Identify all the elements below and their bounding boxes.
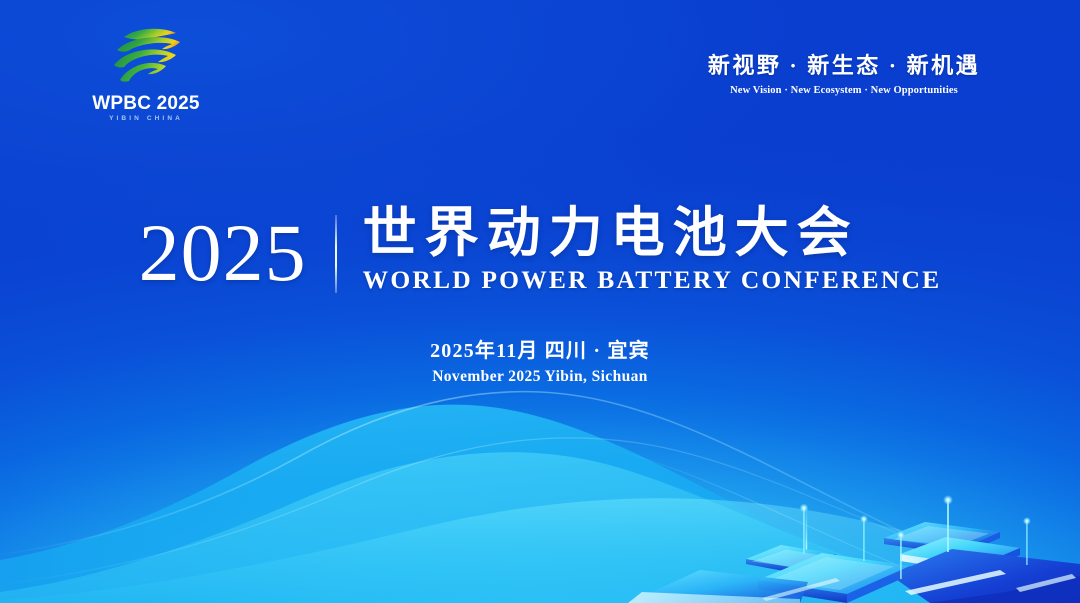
title-english: WORLD POWER BATTERY CONFERENCE [363, 266, 942, 294]
main-title-block: 2025 世界动力电池大会 WORLD POWER BATTERY CONFER… [0, 203, 1080, 295]
glowing-light-beam-group [806, 505, 808, 553]
date-english: November 2025 Yibin, Sichuan [0, 367, 1080, 387]
tagline-chinese: 新视野 · 新生态 · 新机遇 [694, 52, 994, 80]
logo-subtitle: YIBIN CHINA [86, 116, 206, 123]
title-year: 2025 [139, 203, 307, 295]
date-chinese: 2025年11月 四川 · 宜宾 [0, 338, 1080, 364]
wpbc-globe-mark-icon [100, 24, 192, 92]
title-chinese: 世界动力电池大会 [363, 203, 942, 263]
poster-canvas: WPBC 2025 YIBIN CHINA 新视野 · 新生态 · 新机遇 Ne… [0, 0, 1080, 603]
tagline-block: 新视野 · 新生态 · 新机遇 New Vision · New Ecosyst… [694, 52, 994, 97]
date-location-block: 2025年11月 四川 · 宜宾 November 2025 Yibin, Si… [0, 338, 1080, 387]
event-logo: WPBC 2025 YIBIN CHINA [86, 24, 206, 132]
title-divider [335, 215, 337, 293]
logo-title: WPBC 2025 [86, 94, 206, 113]
tagline-english: New Vision · New Ecosystem · New Opportu… [694, 85, 994, 98]
